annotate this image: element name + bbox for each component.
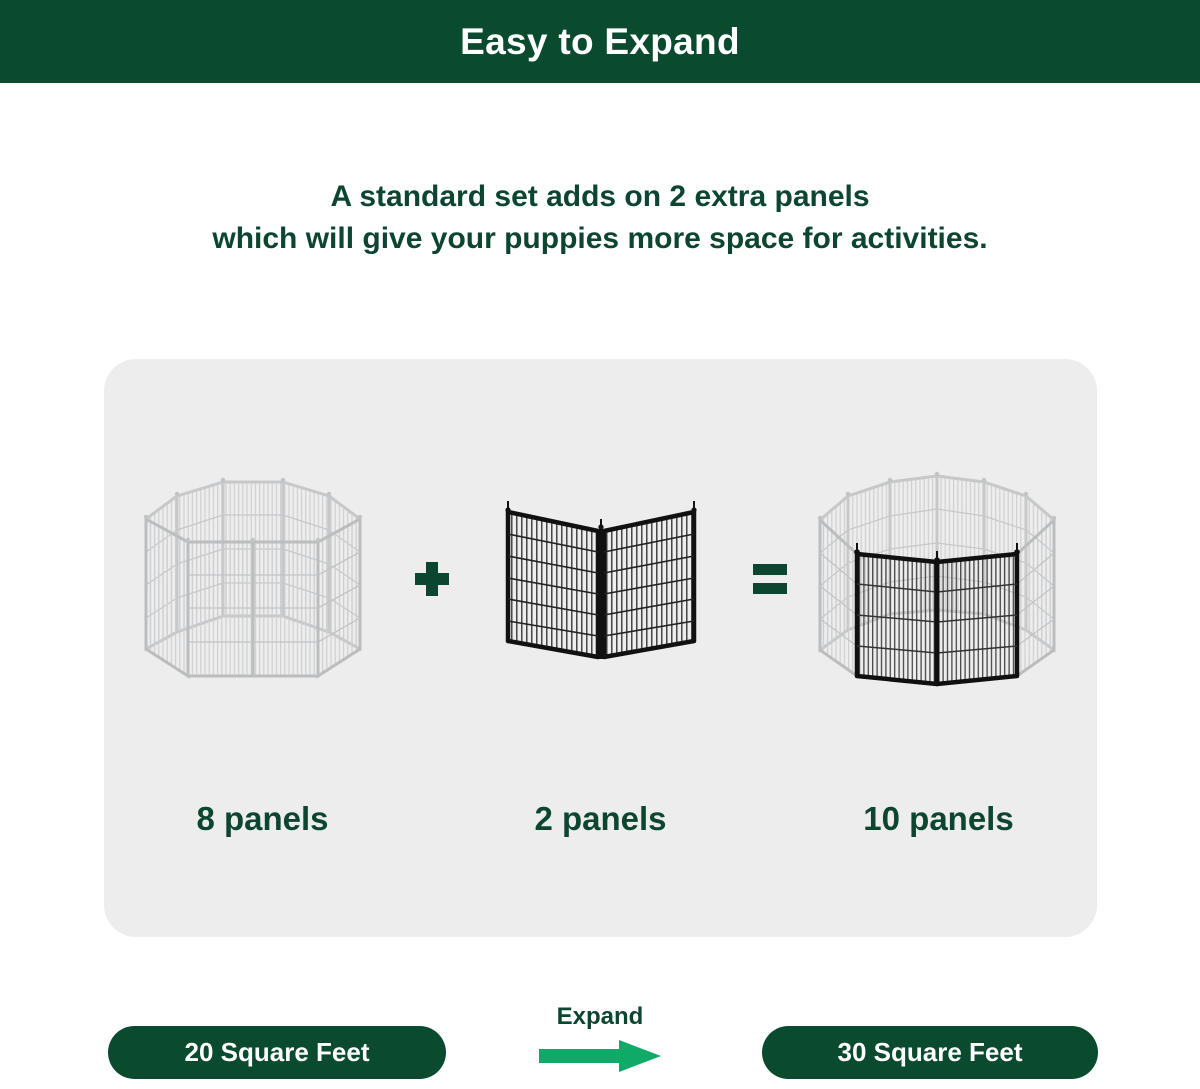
label-2-panels: 2 panels	[467, 800, 735, 838]
dog-playpen-10-panel-decagon-icon	[806, 462, 1071, 697]
status-badge-20-square-feet: 20 Square Feet	[108, 1026, 446, 1079]
operator-plus	[397, 562, 467, 596]
dog-playpen-2-panel-pair-icon	[486, 479, 716, 679]
equals-icon	[753, 564, 787, 594]
dog-playpen-8-panel-octagon-icon	[133, 464, 393, 694]
playpen-2-panel-cell	[467, 454, 735, 704]
playpen-8-panel-cell	[129, 454, 397, 704]
easy-to-expand-infographic: Easy to Expand A standard set adds on 2 …	[0, 0, 1200, 1089]
operator-equals	[735, 564, 805, 594]
panel-count-labels: 8 panels 2 panels 10 panels	[104, 789, 1097, 849]
playpen-10-panel-cell	[805, 454, 1073, 704]
label-8-panels: 8 panels	[129, 800, 397, 838]
equation-card: 8 panels 2 panels 10 panels	[104, 359, 1097, 937]
area-comparison-row: 20 Square Feet Expand 30 Square Feet	[0, 1000, 1200, 1089]
expand-label: Expand	[470, 1002, 730, 1032]
plus-icon	[415, 562, 449, 596]
arrow-wrapper	[470, 1038, 730, 1074]
expand-indicator: Expand	[470, 1002, 730, 1074]
subtitle-line-1: A standard set adds on 2 extra panels	[0, 176, 1200, 218]
equation-row	[104, 454, 1097, 704]
status-badge-30-square-feet: 30 Square Feet	[762, 1026, 1098, 1079]
header-banner: Easy to Expand	[0, 0, 1200, 83]
label-10-panels: 10 panels	[805, 800, 1073, 838]
right-arrow-icon	[535, 1038, 665, 1074]
subtitle-block: A standard set adds on 2 extra panels wh…	[0, 176, 1200, 260]
subtitle-line-2: which will give your puppies more space …	[0, 218, 1200, 260]
page-title: Easy to Expand	[460, 23, 740, 60]
